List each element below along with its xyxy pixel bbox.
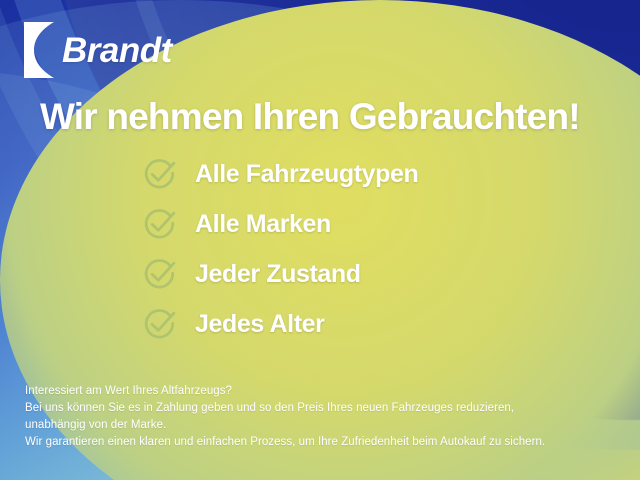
list-item-label: Alle Marken [195,212,331,237]
body-line-4: Wir garantieren einen klaren und einfach… [25,434,545,451]
brand-logo[interactable]: Brandt [24,22,172,78]
check-circle-icon [141,155,179,193]
body-line-1: Interessiert am Wert Ihres Altfahrzeugs? [25,383,545,400]
check-circle-icon [141,255,179,293]
list-item: Alle Marken [142,206,418,242]
list-item-label: Jedes Alter [195,312,324,337]
page-title: Wir nehmen Ihren Gebrauchten! [40,98,580,135]
check-circle-icon [141,205,179,243]
list-item: Alle Fahrzeugtypen [142,156,418,192]
promo-banner: Brandt Wir nehmen Ihren Gebrauchten! All… [0,0,640,480]
list-item-label: Alle Fahrzeugtypen [195,162,418,187]
body-line-3: unabhängig von der Marke. [25,417,545,434]
brand-name: Brandt [62,33,172,68]
feature-list: Alle Fahrzeugtypen Alle Marken Jeder Zus… [142,156,418,342]
list-item-label: Jeder Zustand [195,262,361,287]
check-circle-icon [141,305,179,343]
list-item: Jeder Zustand [142,256,418,292]
body-copy: Interessiert am Wert Ihres Altfahrzeugs?… [25,383,545,451]
bracket-crescent-logo-mark-icon [24,22,54,78]
list-item: Jedes Alter [142,306,418,342]
body-line-2: Bei uns können Sie es in Zahlung geben u… [25,400,545,417]
banner-content: Brandt Wir nehmen Ihren Gebrauchten! All… [0,0,640,480]
